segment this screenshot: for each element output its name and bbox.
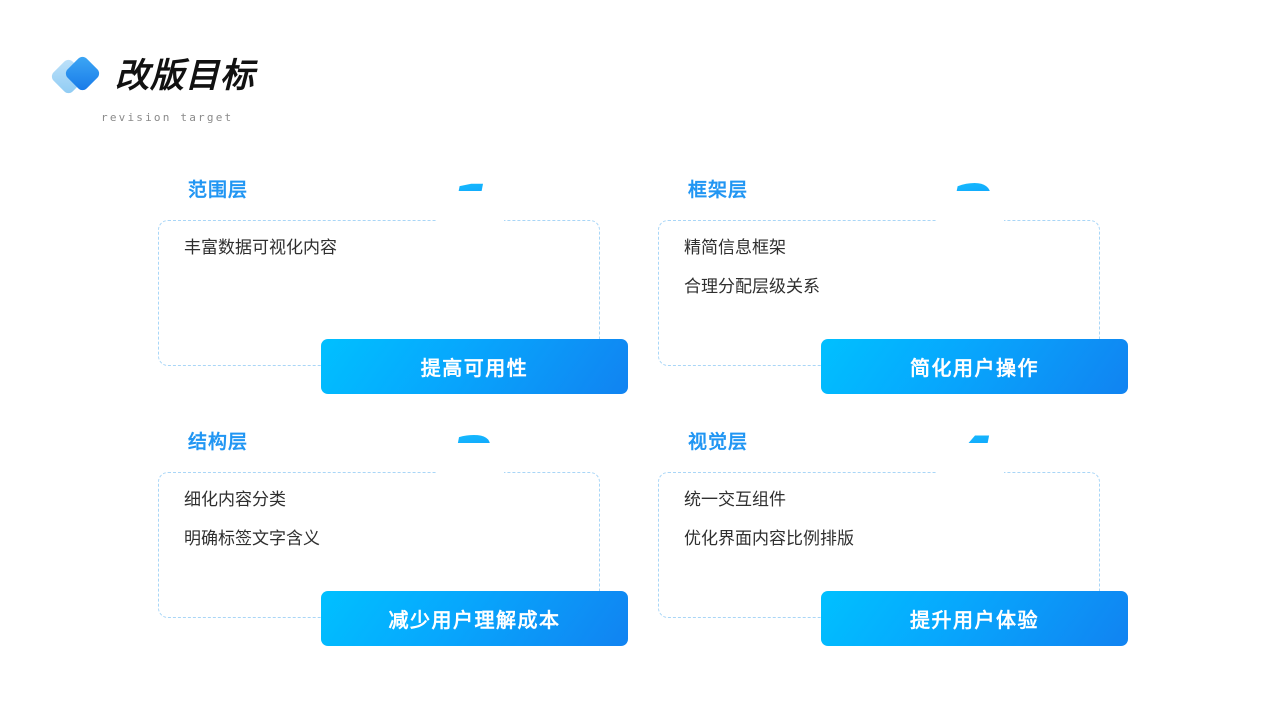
card-item-list: 丰富数据可视化内容 (184, 239, 337, 256)
card-step-number: 3 (436, 429, 504, 495)
card-step-number: 1 (436, 177, 504, 243)
card-layer-label: 范围层 (182, 181, 254, 206)
page-subtitle: revision target (101, 111, 255, 124)
header-title-row: 改版目标 (55, 55, 255, 97)
card-layer-label: 视觉层 (682, 433, 754, 458)
list-item: 丰富数据可视化内容 (184, 239, 337, 256)
card-step-number: 2 (936, 177, 1004, 243)
list-item: 优化界面内容比例排版 (684, 530, 854, 547)
list-item: 明确标签文字含义 (184, 530, 320, 547)
list-item: 细化内容分类 (184, 491, 320, 508)
goal-card: 视觉层 4 统一交互组件 优化界面内容比例排版 提升用户体验 (658, 433, 1100, 645)
goal-card-grid: 范围层 1 丰富数据可视化内容 提高可用性 框架层 2 精简信息框架 合理分配层… (158, 181, 1123, 633)
card-goal-button[interactable]: 提升用户体验 (821, 591, 1128, 646)
slide-header: 改版目标 revision target (55, 55, 255, 124)
list-item: 统一交互组件 (684, 491, 854, 508)
card-goal-button[interactable]: 简化用户操作 (821, 339, 1128, 394)
double-diamond-logo-icon (55, 55, 101, 97)
card-goal-button[interactable]: 提高可用性 (321, 339, 628, 394)
list-item: 精简信息框架 (684, 239, 820, 256)
goal-card: 结构层 3 细化内容分类 明确标签文字含义 减少用户理解成本 (158, 433, 600, 645)
card-goal-button[interactable]: 减少用户理解成本 (321, 591, 628, 646)
list-item: 合理分配层级关系 (684, 278, 820, 295)
slide-canvas: 改版目标 revision target 范围层 1 丰富数据可视化内容 提高可… (0, 0, 1280, 720)
card-item-list: 细化内容分类 明确标签文字含义 (184, 491, 320, 547)
card-layer-label: 结构层 (182, 433, 254, 458)
card-item-list: 精简信息框架 合理分配层级关系 (684, 239, 820, 295)
card-step-number: 4 (936, 429, 1004, 495)
goal-card: 范围层 1 丰富数据可视化内容 提高可用性 (158, 181, 600, 393)
card-layer-label: 框架层 (682, 181, 754, 206)
page-title: 改版目标 (115, 59, 255, 93)
goal-card: 框架层 2 精简信息框架 合理分配层级关系 简化用户操作 (658, 181, 1100, 393)
card-item-list: 统一交互组件 优化界面内容比例排版 (684, 491, 854, 547)
